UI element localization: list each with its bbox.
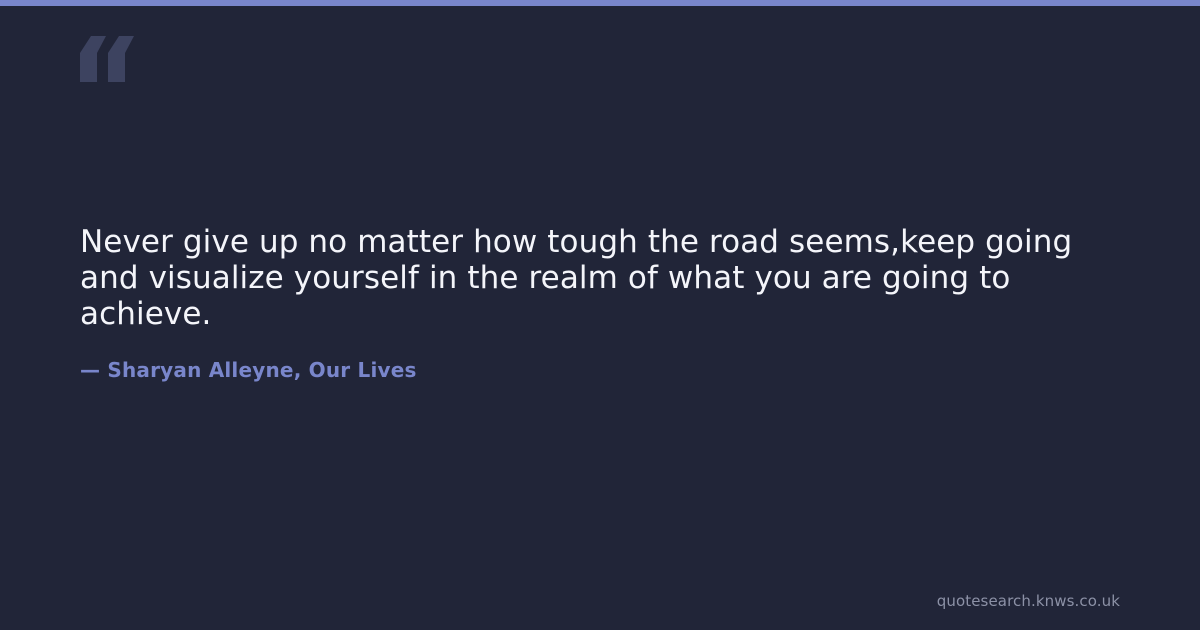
quote-text: Never give up no matter how tough the ro… (80, 224, 1110, 332)
open-quote-icon (80, 36, 140, 86)
top-accent-bar (0, 0, 1200, 6)
quote-attribution: — Sharyan Alleyne, Our Lives (80, 357, 417, 383)
source-site-label: quotesearch.knws.co.uk (937, 592, 1120, 610)
quote-block: Never give up no matter how tough the ro… (80, 224, 1110, 332)
quote-card: Never give up no matter how tough the ro… (0, 0, 1200, 630)
